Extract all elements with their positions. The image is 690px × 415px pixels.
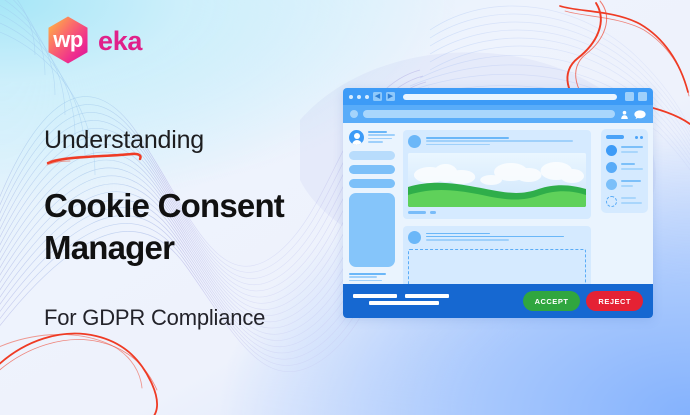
post-avatar [408, 135, 421, 148]
panel-title [606, 135, 624, 139]
back-icon[interactable]: ◀ [373, 92, 382, 101]
account-icon[interactable] [620, 110, 629, 119]
browser-window-mockup: ◀ ▶ [343, 88, 653, 318]
suggestions-panel [601, 129, 648, 213]
consent-text-line-3 [369, 301, 439, 305]
hero-subtitle: For GDPR Compliance [44, 305, 265, 331]
kicker-underline-stroke [40, 150, 160, 172]
page-title: Cookie Consent Manager [44, 185, 334, 269]
list-item-lines [621, 146, 643, 155]
sidebar-item-1[interactable] [349, 151, 395, 160]
logo-hexagon-icon: wp [42, 14, 94, 66]
profile-text-lines [368, 130, 395, 145]
list-item[interactable] [606, 162, 643, 173]
card-footer-actions[interactable] [408, 211, 586, 214]
user-avatar [349, 130, 364, 145]
logo-wordmark: eka [98, 28, 142, 55]
accept-button[interactable]: ACCEPT [523, 291, 581, 311]
card-action-more[interactable] [430, 211, 436, 214]
maximize-icon[interactable] [638, 92, 647, 101]
browser-titlebar: ◀ ▶ [343, 88, 653, 105]
panel-header [606, 135, 643, 139]
sidebar-profile[interactable] [349, 130, 395, 145]
cookie-consent-banner: ACCEPT REJECT [343, 284, 653, 318]
card-meta-lines [426, 231, 586, 243]
hero-text-column: wp eka Understanding Cookie Consent Mana… [0, 0, 340, 415]
consent-text-line-1 [353, 294, 397, 298]
consent-message [353, 294, 517, 308]
reject-button[interactable]: REJECT [586, 291, 643, 311]
sidebar-item-3[interactable] [349, 179, 395, 188]
consent-text-line-2 [405, 294, 449, 298]
post-avatar [408, 231, 421, 244]
list-item-lines [621, 180, 643, 189]
feed-card-photo[interactable] [403, 130, 591, 219]
forward-icon[interactable]: ▶ [386, 92, 395, 101]
avatar [606, 179, 617, 190]
card-meta-lines [426, 135, 586, 147]
list-item[interactable] [606, 196, 643, 207]
card-action-like[interactable] [408, 211, 426, 214]
list-item[interactable] [606, 179, 643, 190]
browser-toolbar [343, 105, 653, 123]
minimize-icon[interactable] [625, 92, 634, 101]
window-dot-2 [357, 95, 361, 99]
brand-logo[interactable]: wp eka [42, 14, 142, 66]
list-item-lines [621, 197, 643, 206]
avatar [606, 145, 617, 156]
browser-viewport: ACCEPT REJECT [343, 123, 653, 318]
message-icon[interactable] [634, 110, 646, 119]
window-dot-1 [349, 95, 353, 99]
sidebar-footer-links [349, 273, 395, 281]
more-options-icon[interactable] [635, 136, 643, 139]
reload-icon[interactable] [350, 110, 358, 118]
card-header [408, 135, 586, 148]
address-bar[interactable] [363, 110, 615, 118]
list-item[interactable] [606, 145, 643, 156]
window-dot-3 [365, 95, 369, 99]
avatar-placeholder [606, 196, 617, 207]
sidebar-promo-block[interactable] [349, 193, 395, 267]
list-item-lines [621, 163, 643, 172]
logo-mark-text: wp [53, 29, 83, 51]
landscape-photo [408, 153, 586, 207]
titlebar-tab-strip [403, 94, 617, 100]
card-header [408, 231, 586, 244]
avatar [606, 162, 617, 173]
sidebar-item-2[interactable] [349, 165, 395, 174]
